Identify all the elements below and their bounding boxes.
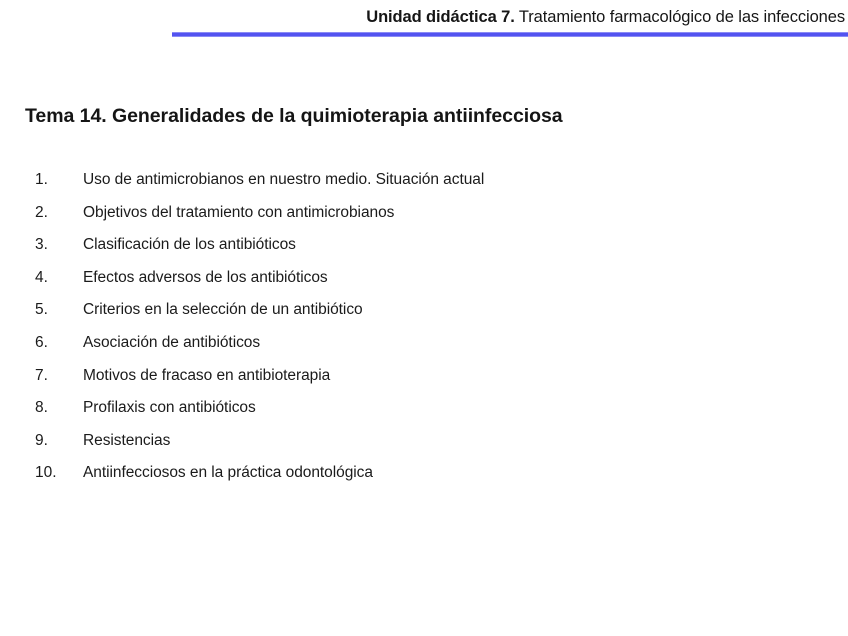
list-item: 3. Clasificación de los antibióticos: [0, 235, 848, 268]
list-item-number: 7.: [35, 366, 75, 386]
header-divider-rule: [172, 32, 848, 37]
list-item-label: Profilaxis con antibióticos: [83, 398, 256, 418]
list-item: 6. Asociación de antibióticos: [0, 333, 848, 366]
list-item-number: 1.: [35, 170, 75, 190]
list-item-number: 2.: [35, 203, 75, 223]
list-item-number: 3.: [35, 235, 75, 255]
header-unit-label: Unidad didáctica 7.: [366, 8, 514, 26]
list-item-number: 8.: [35, 398, 75, 418]
page-title: Tema 14. Generalidades de la quimioterap…: [25, 103, 563, 129]
list-item-label: Efectos adversos de los antibióticos: [83, 268, 328, 288]
list-item: 9. Resistencias: [0, 431, 848, 464]
slide-canvas: Unidad didáctica 7. Tratamiento farmacol…: [0, 0, 848, 636]
list-item: 7. Motivos de fracaso en antibioterapia: [0, 366, 848, 399]
header-unit-subject: Tratamiento farmacológico de las infecci…: [515, 8, 845, 26]
list-item-number: 5.: [35, 300, 75, 320]
list-item: 8. Profilaxis con antibióticos: [0, 398, 848, 431]
list-item-number: 4.: [35, 268, 75, 288]
list-item-label: Clasificación de los antibióticos: [83, 235, 296, 255]
list-item-label: Uso de antimicrobianos en nuestro medio.…: [83, 170, 484, 190]
topic-list: 1. Uso de antimicrobianos en nuestro med…: [0, 170, 848, 496]
header-unit-text: Unidad didáctica 7. Tratamiento farmacol…: [85, 6, 845, 28]
list-item: 4. Efectos adversos de los antibióticos: [0, 268, 848, 301]
list-item: 5. Criterios en la selección de un antib…: [0, 300, 848, 333]
list-item-label: Antiinfecciosos en la práctica odontológ…: [83, 463, 373, 483]
list-item-label: Asociación de antibióticos: [83, 333, 260, 353]
list-item-number: 9.: [35, 431, 75, 451]
list-item-label: Motivos de fracaso en antibioterapia: [83, 366, 330, 386]
list-item: 10. Antiinfecciosos en la práctica odont…: [0, 463, 848, 496]
list-item-label: Resistencias: [83, 431, 170, 451]
list-item: 1. Uso de antimicrobianos en nuestro med…: [0, 170, 848, 203]
list-item: 2. Objetivos del tratamiento con antimic…: [0, 203, 848, 236]
list-item-label: Criterios en la selección de un antibiót…: [83, 300, 363, 320]
list-item-number: 6.: [35, 333, 75, 353]
list-item-number: 10.: [35, 463, 75, 483]
slide-header: Unidad didáctica 7. Tratamiento farmacol…: [0, 0, 848, 40]
list-item-label: Objetivos del tratamiento con antimicrob…: [83, 203, 394, 223]
